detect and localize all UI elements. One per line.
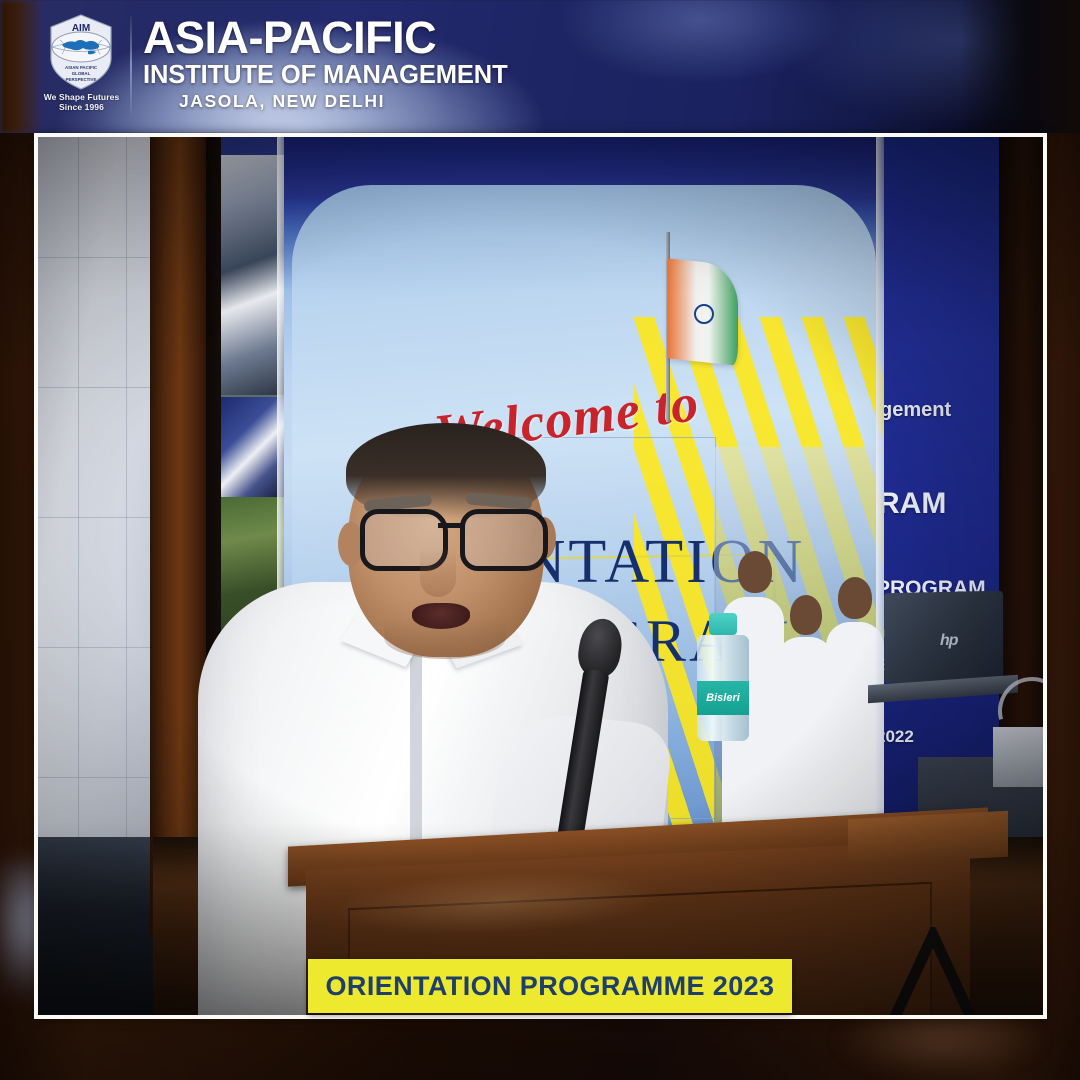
- header-divider: [130, 16, 132, 114]
- institute-logo: AIM ASIAN PACIFIC GLOBAL PERSPECTIVE We …: [34, 12, 129, 120]
- svg-text:ASIAN PACIFIC: ASIAN PACIFIC: [65, 65, 98, 70]
- brand-location: JASOLA, NEW DELHI: [143, 90, 421, 112]
- header-bar: AIM ASIAN PACIFIC GLOBAL PERSPECTIVE We …: [0, 0, 1080, 133]
- brand-subtitle: INSTITUTE OF MANAGEMENT: [143, 60, 563, 90]
- caption-banner: ORIENTATION PROGRAMME 2023: [308, 959, 792, 1013]
- poster-canvas: AIM ASIAN PACIFIC GLOBAL PERSPECTIVE We …: [0, 0, 1080, 1080]
- caption-text: ORIENTATION PROGRAMME 2023: [326, 971, 775, 1002]
- header-right-shadow: [960, 0, 1080, 133]
- brand-name: ASIA-PACIFIC: [143, 16, 563, 60]
- logo-tagline: We Shape Futures Since 1996: [34, 92, 129, 112]
- svg-text:GLOBAL: GLOBAL: [72, 71, 91, 76]
- svg-text:PERSPECTIVE: PERSPECTIVE: [66, 77, 97, 82]
- logo-tagline-line1: We Shape Futures: [34, 92, 129, 102]
- globe-map-shield-icon: AIM ASIAN PACIFIC GLOBAL PERSPECTIVE: [48, 14, 114, 90]
- photo-white-frame: [34, 133, 1047, 1019]
- header-title-block: ASIA-PACIFIC INSTITUTE OF MANAGEMENT JAS…: [143, 16, 563, 112]
- logo-tagline-line2: Since 1996: [34, 102, 129, 112]
